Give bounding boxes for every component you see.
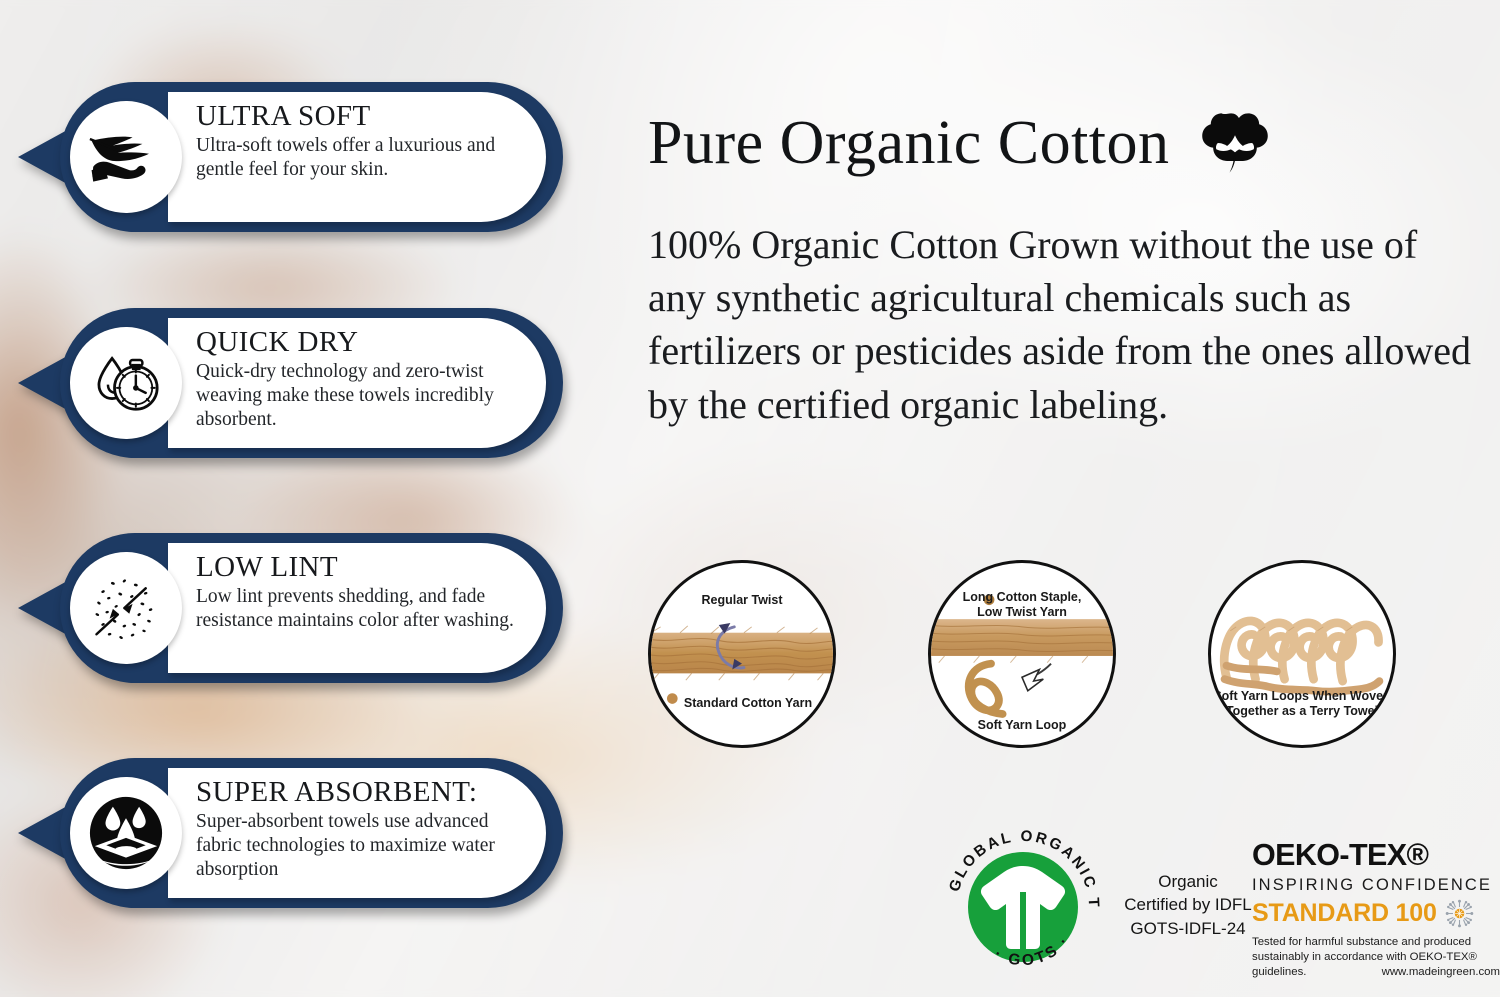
badge-card: SUPER ABSORBENT: Super-absorbent towels … xyxy=(168,768,546,898)
oeko-standard-row: STANDARD 100 xyxy=(1252,899,1500,928)
oeko-subtitle: INSPIRING CONFIDENCE xyxy=(1252,877,1500,894)
droplets-fabric-icon xyxy=(70,777,182,889)
feature-title: SUPER ABSORBENT: xyxy=(196,777,520,808)
oeko-title: OEKO-TEX® xyxy=(1252,840,1500,871)
oeko-website: www.madeingreen.com xyxy=(1382,965,1500,980)
feature-description: Quick-dry technology and zero-twist weav… xyxy=(196,360,520,432)
oeko-snowflake-icon xyxy=(1445,899,1474,928)
droplet-stopwatch-icon xyxy=(70,327,182,439)
yarn-diagram-low-twist: Long Cotton Staple, Low Twist Yarn Soft … xyxy=(928,560,1116,748)
feature-badge-ultra-soft[interactable]: ULTRA SOFT Ultra-soft towels offer a lux… xyxy=(18,82,563,232)
feature-badge-low-lint[interactable]: LOW LINT Low lint prevents shedding, and… xyxy=(18,533,563,683)
oeko-standard: STANDARD 100 xyxy=(1252,901,1437,926)
infographic-root: ULTRA SOFT Ultra-soft towels offer a lux… xyxy=(0,0,1500,997)
feature-description: Low lint prevents shedding, and fade res… xyxy=(196,585,520,633)
certification-row: GLOBAL ORGANIC TEXTILE STANDARD · GOTS ·… xyxy=(640,812,1500,997)
feature-description: Ultra-soft towels offer a luxurious and … xyxy=(196,134,520,182)
oeko-fine-print: Tested for harmful substance and produce… xyxy=(1252,935,1500,980)
gots-logo: GLOBAL ORGANIC TEXTILE STANDARD · GOTS · xyxy=(938,822,1108,992)
right-column: Pure Organic Cotton 100% Organic Cotton … xyxy=(640,0,1500,997)
feature-description: Super-absorbent towels use advanced fabr… xyxy=(196,810,520,882)
cotton-boll-icon xyxy=(1196,104,1274,182)
badge-card: QUICK DRY Quick-dry technology and zero-… xyxy=(168,318,546,448)
oeko-fine-text: Tested for harmful substance and produce… xyxy=(1252,935,1500,965)
oeko-tex-block: OEKO-TEX® INSPIRING CONFIDENCE STANDARD … xyxy=(1252,840,1500,980)
yarn-diagram-regular-twist: Regular Twist Standard Cotton Yarn xyxy=(648,560,836,748)
yarn-diagram-terry-loops: Soft Yarn Loops When Woven Together as a… xyxy=(1208,560,1396,748)
feature-title: ULTRA SOFT xyxy=(196,101,520,132)
gots-caption: Organic Certified by IDFL GOTS-IDFL-24 xyxy=(1118,870,1258,940)
oeko-fine-tail: guidelines. xyxy=(1252,965,1306,980)
yarn-diagram-group: Regular Twist Standard Cotton Yarn xyxy=(640,560,1500,760)
feature-list: ULTRA SOFT Ultra-soft towels offer a lux… xyxy=(0,0,600,997)
badge-card: ULTRA SOFT Ultra-soft towels offer a lux… xyxy=(168,92,546,222)
page-title: Pure Organic Cotton xyxy=(648,112,1170,174)
headline-row: Pure Organic Cotton xyxy=(648,104,1274,182)
feature-badge-super-absorbent[interactable]: SUPER ABSORBENT: Super-absorbent towels … xyxy=(18,758,563,908)
lint-particles-icon xyxy=(70,552,182,664)
description-paragraph: 100% Organic Cotton Grown without the us… xyxy=(648,218,1478,431)
feature-title: LOW LINT xyxy=(196,552,520,583)
feature-badge-quick-dry[interactable]: QUICK DRY Quick-dry technology and zero-… xyxy=(18,308,563,458)
badge-card: LOW LINT Low lint prevents shedding, and… xyxy=(168,543,546,673)
hand-feather-icon xyxy=(70,101,182,213)
feature-title: QUICK DRY xyxy=(196,327,520,358)
